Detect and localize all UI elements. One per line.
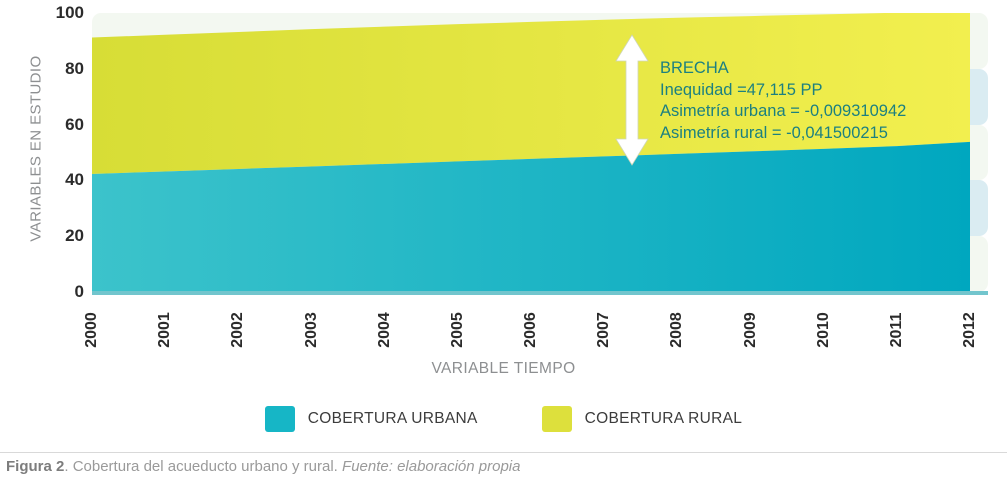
annotation-line-asimetria-urbana: Asimetría urbana = -0,009310942 xyxy=(660,101,906,123)
annotation-line-inequidad: Inequidad =47,115 PP xyxy=(660,80,906,102)
x-axis-tick-2005: 2005 xyxy=(450,300,466,360)
x-axis-tick-label: 2005 xyxy=(450,312,466,348)
legend-item-urbana[interactable]: COBERTURA URBANA xyxy=(265,406,478,432)
y-axis-tick-80: 80 xyxy=(18,60,84,77)
x-axis-tick-label: 2008 xyxy=(669,312,685,348)
caption-source: Fuente: elaboración propia xyxy=(342,458,520,475)
x-axis-tick-2011: 2011 xyxy=(889,300,905,360)
x-axis-tick-2000: 2000 xyxy=(84,300,100,360)
x-axis-tick-label: 2006 xyxy=(523,312,539,348)
x-axis-tick-2007: 2007 xyxy=(596,300,612,360)
x-axis-tick-2003: 2003 xyxy=(304,300,320,360)
y-axis-tick-60: 60 xyxy=(18,116,84,133)
caption-text: . Cobertura del acueducto urbano y rural… xyxy=(64,458,342,475)
annotation-line-brecha: BRECHA xyxy=(660,58,906,80)
x-axis-tick-2012: 2012 xyxy=(962,300,978,360)
x-axis-tick-label: 2000 xyxy=(84,312,100,348)
y-axis-tick-100: 100 xyxy=(18,4,84,21)
x-axis-tick-label: 2011 xyxy=(889,313,905,348)
legend-item-rural[interactable]: COBERTURA RURAL xyxy=(542,406,743,432)
legend-label: COBERTURA URBANA xyxy=(308,410,478,428)
annotation-line-asimetria-rural: Asimetría rural = -0,041500215 xyxy=(660,123,906,145)
x-axis-tick-labels: 2000200120022003200420052006200720082009… xyxy=(92,296,988,358)
x-axis-tick-label: 2012 xyxy=(962,312,978,348)
x-axis-tick-2001: 2001 xyxy=(157,300,173,360)
y-axis-tick-20: 20 xyxy=(18,227,84,244)
x-axis-tick-2004: 2004 xyxy=(377,300,393,360)
caption-divider xyxy=(0,452,1007,453)
x-axis-title: VARIABLE TIEMPO xyxy=(0,360,1007,378)
y-axis-tick-labels: 100806040200 xyxy=(18,0,84,300)
gap-annotation: BRECHA Inequidad =47,115 PP Asimetría ur… xyxy=(660,58,906,144)
x-axis-tick-label: 2003 xyxy=(304,312,320,348)
x-axis-tick-label: 2002 xyxy=(230,312,246,348)
x-axis-tick-2010: 2010 xyxy=(816,300,832,360)
legend-label: COBERTURA RURAL xyxy=(585,410,743,428)
stacked-area-chart xyxy=(92,13,988,292)
figure-container: VARIABLES EN ESTUDIO 100806040200 xyxy=(0,0,1007,483)
chart-legend: COBERTURA URBANACOBERTURA RURAL xyxy=(0,406,1007,432)
caption-figure-number: Figura 2 xyxy=(6,458,64,475)
y-axis-tick-40: 40 xyxy=(18,171,84,188)
x-axis-tick-label: 2001 xyxy=(157,312,173,348)
legend-swatch-rural xyxy=(542,406,572,432)
x-axis-tick-label: 2007 xyxy=(596,312,612,348)
x-axis-tick-label: 2009 xyxy=(743,312,759,348)
plot-area: BRECHA Inequidad =47,115 PP Asimetría ur… xyxy=(92,13,988,292)
x-axis-baseline xyxy=(92,291,988,295)
y-axis-tick-0: 0 xyxy=(18,283,84,300)
x-axis-tick-label: 2004 xyxy=(377,312,393,348)
figure-caption: Figura 2. Cobertura del acueducto urbano… xyxy=(6,458,521,475)
x-axis-tick-2002: 2002 xyxy=(230,300,246,360)
double-headed-vertical-arrow xyxy=(611,33,653,167)
x-axis-tick-2009: 2009 xyxy=(743,300,759,360)
x-axis-tick-2006: 2006 xyxy=(523,300,539,360)
legend-swatch-urbana xyxy=(265,406,295,432)
x-axis-tick-2008: 2008 xyxy=(669,300,685,360)
x-axis-tick-label: 2010 xyxy=(816,312,832,348)
